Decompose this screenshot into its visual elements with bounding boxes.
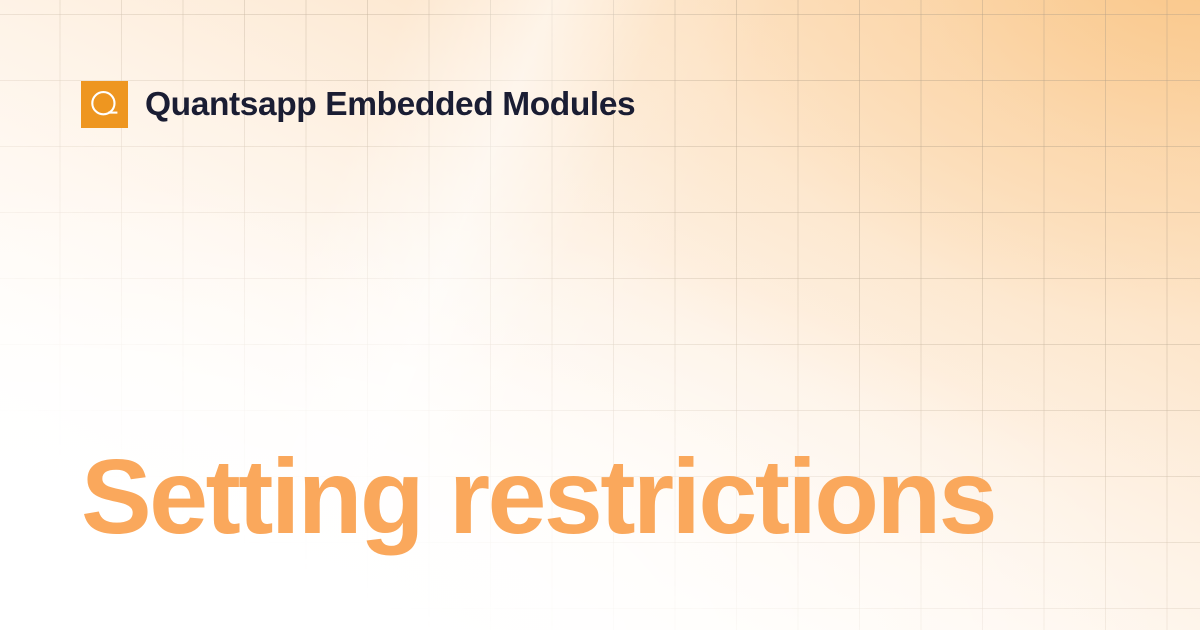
brand-title: Quantsapp Embedded Modules (145, 88, 635, 122)
page-title: Setting restrictions (81, 443, 1121, 551)
quantsapp-q-logo-icon (81, 81, 128, 128)
content-layer: Quantsapp Embedded Modules Setting restr… (0, 0, 1200, 630)
brand-lockup: Quantsapp Embedded Modules (81, 81, 635, 128)
og-card: Quantsapp Embedded Modules Setting restr… (0, 0, 1200, 630)
